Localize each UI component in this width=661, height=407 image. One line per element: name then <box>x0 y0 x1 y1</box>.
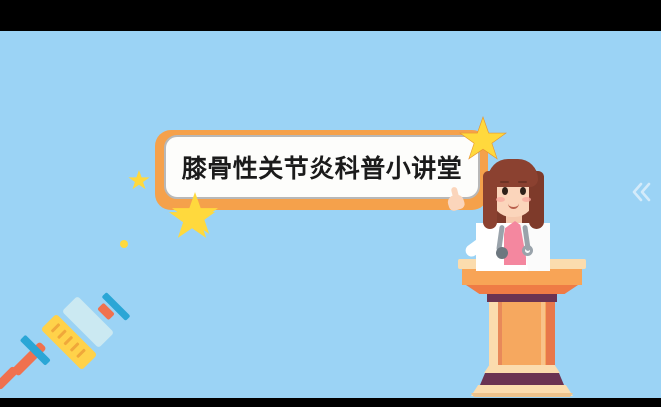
lectern-column-inner-right <box>541 302 545 365</box>
doctor-hair-front <box>488 159 538 187</box>
doctor-eyebrow-right <box>518 181 527 183</box>
lectern-desk-face <box>462 269 582 285</box>
doctor-eye-right <box>520 187 526 195</box>
doctor-eyebrow-left <box>500 181 509 183</box>
page-title: 膝骨性关节炎科普小讲堂 <box>182 149 463 185</box>
doctor-eye-left <box>502 187 508 195</box>
slide-stage: 膝骨性关节炎科普小讲堂 <box>0 31 661 398</box>
lectern-collar <box>487 294 557 302</box>
doctor-cheek-left <box>496 197 505 202</box>
letterbox-bar-bottom <box>0 398 661 407</box>
lectern-column-inner-left <box>498 302 502 365</box>
star-small-left <box>128 170 150 191</box>
lectern-base-shadow <box>471 393 573 397</box>
lectern-base-accent <box>480 373 564 385</box>
plaque-face: 膝骨性关节炎科普小讲堂 <box>164 135 480 199</box>
letterbox-bar-top <box>0 0 661 31</box>
stethoscope-earpiece <box>522 245 533 256</box>
syringe-thumb-rest <box>0 366 19 391</box>
lectern-base-cap <box>484 365 560 373</box>
doctor-presenter <box>452 151 562 271</box>
lectern-column-right-shadow <box>546 302 555 365</box>
doctor-cheek-right <box>522 197 531 202</box>
syringe-icon <box>18 279 138 394</box>
video-player: 膝骨性关节炎科普小讲堂 <box>0 0 661 407</box>
stethoscope-bell <box>496 247 508 259</box>
title-plaque: 膝骨性关节炎科普小讲堂 <box>155 130 488 210</box>
lectern-desk-bevel <box>466 285 578 294</box>
star-dot-tiny-left <box>120 240 128 248</box>
lectern-column-left-light <box>489 302 498 365</box>
chevron-double-left-icon[interactable] <box>629 177 655 207</box>
